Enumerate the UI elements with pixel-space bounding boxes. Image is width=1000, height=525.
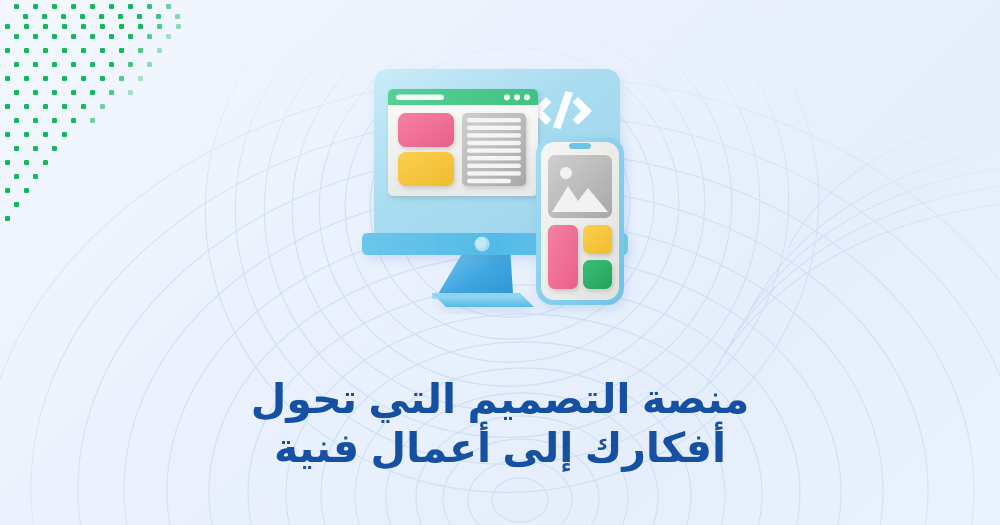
headline-line-1: منصة التصميم التي تحول <box>0 375 1000 423</box>
page-title: منصة التصميم التي تحول أفكارك إلى أعمال … <box>0 375 1000 472</box>
phone-card-yellow <box>583 225 612 254</box>
monitor-stand-group <box>432 247 534 307</box>
smartphone-mockup <box>536 137 624 305</box>
text-lines-panel <box>462 113 526 186</box>
dot-grid-decoration <box>0 0 210 250</box>
card-yellow <box>398 152 454 186</box>
headline-line-2: أفكارك إلى أعمال فنية <box>0 424 1000 472</box>
phone-speaker-icon <box>569 143 591 149</box>
titlebar-dots-icon <box>504 94 530 100</box>
card-pink <box>398 113 454 147</box>
hero-banner: منصة التصميم التي تحول أفكارك إلى أعمال … <box>0 0 1000 525</box>
image-placeholder-icon <box>548 155 612 218</box>
phone-card-pink <box>548 225 578 289</box>
browser-window-mockup <box>388 89 538 196</box>
hero-illustration <box>360 55 640 325</box>
titlebar-pill-icon <box>396 95 444 101</box>
phone-card-green <box>583 260 612 289</box>
